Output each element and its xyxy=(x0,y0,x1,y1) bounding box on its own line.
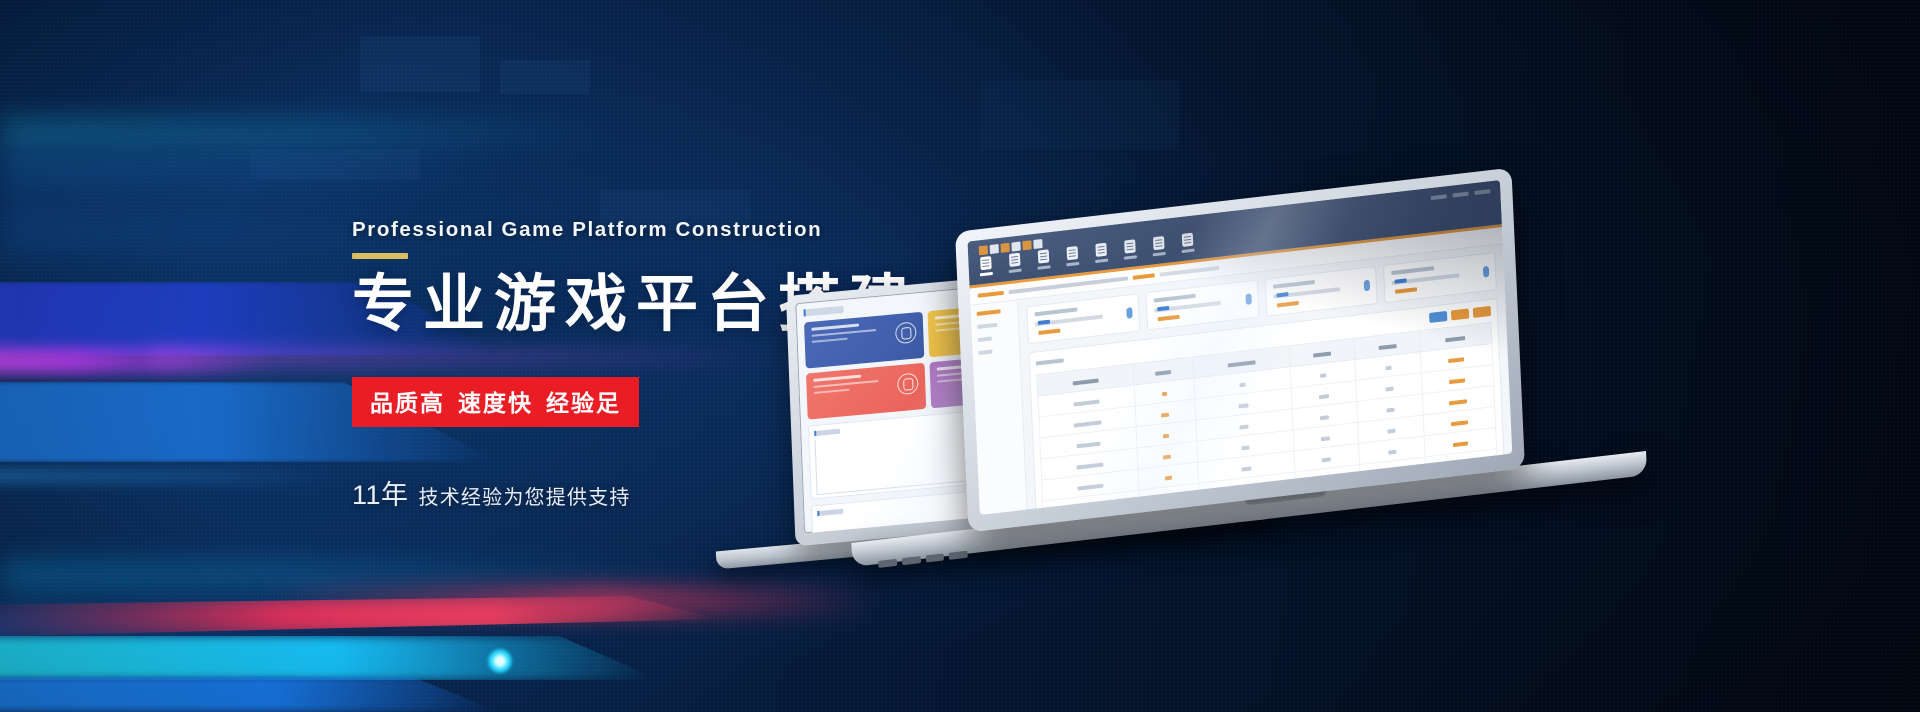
front-laptop-screen xyxy=(967,180,1512,515)
logout-icon xyxy=(1182,233,1194,247)
breadcrumb-highlight xyxy=(1133,273,1155,280)
badge-item-2: 速度快 xyxy=(458,390,533,416)
toolbar-item-settings[interactable] xyxy=(1151,236,1167,257)
export-icon xyxy=(1067,246,1079,260)
lock-icon xyxy=(1124,239,1136,253)
add-icon xyxy=(980,256,992,270)
chart-icon xyxy=(1095,243,1107,257)
toolbar-item-import[interactable] xyxy=(1007,252,1023,273)
admin-dashboard xyxy=(967,180,1512,515)
delete-icon xyxy=(1038,249,1050,263)
stat-card[interactable] xyxy=(1145,280,1259,331)
search-button[interactable] xyxy=(1429,311,1447,323)
toolbar-item-stats[interactable] xyxy=(1093,242,1109,263)
metric-card[interactable] xyxy=(804,312,924,369)
accent-rule xyxy=(352,253,408,259)
stat-icon xyxy=(1364,280,1370,292)
stat-card[interactable] xyxy=(1264,266,1378,317)
import-icon xyxy=(1009,253,1021,267)
device-mockups xyxy=(760,200,1850,600)
stat-icon xyxy=(1126,307,1132,319)
stat-card[interactable] xyxy=(1026,293,1140,344)
badge-item-1: 品质高 xyxy=(370,390,445,416)
stat-icon xyxy=(1483,266,1489,278)
toolbar-item-add[interactable] xyxy=(978,256,994,277)
toolbar-item-permissions[interactable] xyxy=(1122,239,1138,260)
sidebar-item-orders[interactable] xyxy=(978,336,992,342)
recharge-icon xyxy=(897,372,919,395)
toolbar-item-export[interactable] xyxy=(1065,246,1081,267)
line-chart xyxy=(815,425,985,495)
tagline-text: 技术经验为您提供支持 xyxy=(419,487,631,509)
breadcrumb-current xyxy=(1160,266,1220,277)
toolbar-item-delete[interactable] xyxy=(1036,249,1052,270)
header-user-menu[interactable] xyxy=(1431,189,1491,200)
stat-card[interactable] xyxy=(1383,252,1497,303)
front-laptop-lid xyxy=(955,168,1525,533)
add-button[interactable] xyxy=(1451,308,1469,320)
tagline-years: 11年 xyxy=(352,480,409,510)
toolbar-item-logout[interactable] xyxy=(1180,232,1196,253)
badge-label: 品质高速度快经验足 xyxy=(370,384,621,418)
export-button[interactable] xyxy=(1473,306,1491,318)
stat-icon xyxy=(1245,293,1251,305)
metric-card[interactable] xyxy=(806,363,926,420)
promo-banner: Professional Game Platform Construction … xyxy=(0,0,1920,712)
status-badge: 品质高速度快经验足 xyxy=(352,377,639,427)
back-section-title xyxy=(804,306,844,317)
gear-icon xyxy=(1153,236,1165,250)
table-title xyxy=(1036,358,1064,365)
badge-item-3: 经验足 xyxy=(546,390,621,416)
sidebar-item-users[interactable] xyxy=(977,323,997,329)
sidebar-item-overview[interactable] xyxy=(977,309,1001,316)
user-icon xyxy=(895,321,917,344)
table-action-buttons xyxy=(1429,306,1491,323)
front-laptop xyxy=(955,168,1525,533)
sidebar-item-reports[interactable] xyxy=(978,349,992,355)
breadcrumb-home[interactable] xyxy=(978,291,1004,298)
